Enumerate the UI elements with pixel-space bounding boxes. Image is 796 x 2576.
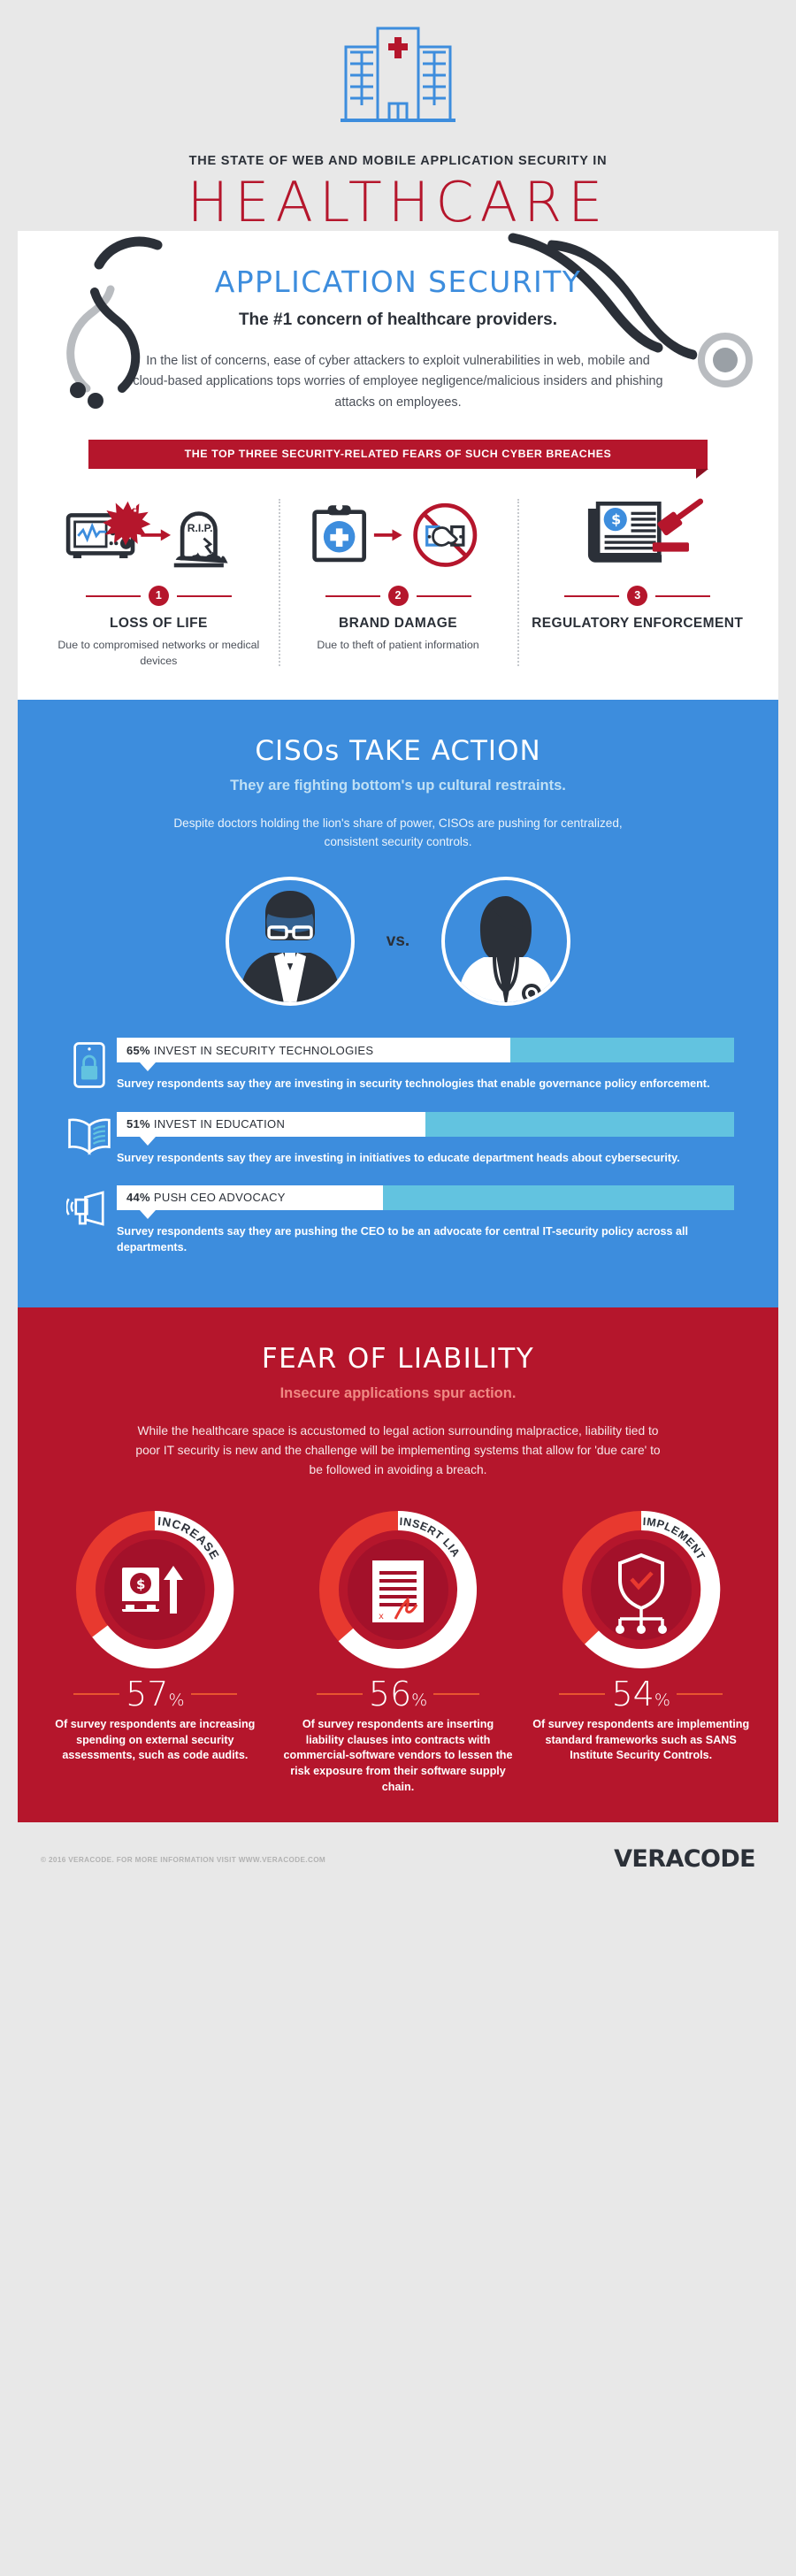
rule-line xyxy=(417,595,471,597)
percent-rule: 57% xyxy=(39,1677,272,1711)
fear-number: 1 xyxy=(149,586,169,606)
cisos-title: CISOs TAKE ACTION xyxy=(18,735,778,767)
stat-label: INVEST IN EDUCATION xyxy=(154,1117,285,1131)
rule-line xyxy=(655,595,710,597)
stat-label: INVEST IN SECURITY TECHNOLOGIES xyxy=(154,1044,373,1057)
infographic-page: THE STATE OF WEB AND MOBILE APPLICATION … xyxy=(0,0,796,2576)
rule-line xyxy=(86,595,141,597)
ciso-stats-list: 65% INVEST IN SECURITY TECHNOLOGIES Surv… xyxy=(62,1038,734,1256)
percent-number: 57 xyxy=(126,1675,168,1713)
percent-value: 57% xyxy=(126,1677,184,1711)
application-security-panel: APPLICATION SECURITY The #1 concern of h… xyxy=(18,231,778,700)
copyright-text: © 2016 VERACODE. FOR MORE INFORMATION VI… xyxy=(41,1856,325,1864)
veracode-logo: VERACODE xyxy=(614,1845,755,1873)
percent-symbol: % xyxy=(411,1690,427,1710)
svg-text:R.I.P.: R.I.P. xyxy=(188,522,213,534)
percent-value: 54% xyxy=(611,1677,670,1711)
businessman-avatar-icon xyxy=(224,875,356,1008)
tablet-lock-icon xyxy=(62,1038,117,1089)
app-security-title: APPLICATION SECURITY xyxy=(18,264,778,299)
stat-bar-label: 51% INVEST IN EDUCATION xyxy=(117,1112,425,1137)
medical-clipboard-to-no-handshake-icon xyxy=(286,495,511,571)
page-title: HEALTHCARE xyxy=(0,173,796,231)
percent-value: 56% xyxy=(369,1677,427,1711)
open-book-icon xyxy=(62,1112,117,1156)
svg-text:x: x xyxy=(379,1612,384,1621)
cisos-body: Despite doctors holding the lion's share… xyxy=(150,814,646,853)
fear-number: 3 xyxy=(627,586,647,606)
stat-percent: 65% xyxy=(126,1044,150,1057)
fear-desc: Due to compromised networks or medical d… xyxy=(46,638,272,669)
document-gavel-icon: $ xyxy=(524,495,750,571)
liability-subtitle: Insecure applications spur action. xyxy=(18,1385,778,1402)
percent-rule: 56% xyxy=(282,1677,515,1711)
percent-rule: 54% xyxy=(524,1677,757,1711)
rule-line xyxy=(191,1693,237,1695)
liability-donuts: INCREASE SPENDING $ 57 xyxy=(18,1506,778,1796)
rule-line xyxy=(433,1693,479,1695)
doctor-avatar-icon xyxy=(440,875,572,1008)
vs-label: vs. xyxy=(387,931,409,951)
stat-desc: Survey respondents say they are pushing … xyxy=(117,1223,734,1256)
fear-name: BRAND DAMAGE xyxy=(286,615,511,632)
stat-label: PUSH CEO ADVOCACY xyxy=(154,1191,286,1204)
liability-body: While the healthcare space is accustomed… xyxy=(133,1422,663,1481)
stat-bar: 44% PUSH CEO ADVOCACY xyxy=(117,1185,734,1210)
percent-symbol: % xyxy=(654,1690,670,1710)
rule-line xyxy=(559,1693,605,1695)
bar-pointer xyxy=(140,1137,156,1146)
fear-number: 2 xyxy=(388,586,409,606)
page-kicker: THE STATE OF WEB AND MOBILE APPLICATION … xyxy=(0,154,796,168)
fear-number-rule: 1 xyxy=(46,586,272,606)
header: THE STATE OF WEB AND MOBILE APPLICATION … xyxy=(0,0,796,231)
percent-desc: Of survey respondents are inserting liab… xyxy=(282,1717,515,1796)
stat-percent: 51% xyxy=(126,1117,150,1131)
donut-chart: INSERT LIABILITY CLAUSE x xyxy=(314,1506,482,1674)
heart-monitor-to-gravestone-icon: ! R.I.P. xyxy=(46,495,272,571)
stat-row: 51% INVEST IN EDUCATION Survey responden… xyxy=(62,1112,734,1166)
fear-number-rule: 3 xyxy=(524,586,750,606)
app-security-subtitle: The #1 concern of healthcare providers. xyxy=(18,310,778,330)
stat-row: 65% INVEST IN SECURITY TECHNOLOGIES Surv… xyxy=(62,1038,734,1092)
fears-list: ! R.I.P. 1 LOSS OF LIFE Due to compromis… xyxy=(18,495,778,670)
bar-pointer xyxy=(140,1062,156,1071)
stat-desc: Survey respondents say they are investin… xyxy=(117,1076,734,1092)
fears-banner: THE TOP THREE SECURITY-RELATED FEARS OF … xyxy=(88,440,708,469)
donut-chart: INCREASE SPENDING $ xyxy=(71,1506,239,1674)
donut-chart: IMPLEMENT FRAMEWORK xyxy=(557,1506,725,1674)
money-up-arrow-icon: $ xyxy=(120,1566,183,1614)
stat-bar-label: 65% INVEST IN SECURITY TECHNOLOGIES xyxy=(117,1038,510,1062)
hospital-building-icon xyxy=(314,19,482,134)
stat-desc: Survey respondents say they are investin… xyxy=(117,1150,734,1166)
rule-line xyxy=(677,1693,723,1695)
stat-bar: 51% INVEST IN EDUCATION xyxy=(117,1112,734,1137)
svg-text:$: $ xyxy=(136,1576,145,1592)
liability-title: FEAR OF LIABILITY xyxy=(18,1343,778,1375)
rule-line xyxy=(325,595,380,597)
rule-line xyxy=(73,1693,119,1695)
svg-text:!: ! xyxy=(132,499,138,516)
rule-line xyxy=(177,595,232,597)
donut-item: INSERT LIABILITY CLAUSE x xyxy=(277,1506,520,1796)
app-security-body: In the list of concerns, ease of cyber a… xyxy=(133,351,663,413)
fear-item: ! R.I.P. 1 LOSS OF LIFE Due to compromis… xyxy=(39,495,279,670)
fear-item: 2 BRAND DAMAGE Due to theft of patient i… xyxy=(279,495,518,670)
fear-item: $ 3 REGULATORY ENFORCEMENT xyxy=(517,495,757,670)
rule-line xyxy=(317,1693,363,1695)
percent-number: 54 xyxy=(611,1675,654,1713)
footer: © 2016 VERACODE. FOR MORE INFORMATION VI… xyxy=(18,1822,778,1904)
fear-name: LOSS OF LIFE xyxy=(46,615,272,632)
donut-item: INCREASE SPENDING $ 57 xyxy=(34,1506,277,1796)
stat-percent: 44% xyxy=(126,1191,150,1204)
percent-symbol: % xyxy=(168,1690,184,1710)
svg-text:$: $ xyxy=(611,511,621,528)
rule-line xyxy=(564,595,619,597)
megaphone-icon xyxy=(62,1185,117,1228)
fear-name: REGULATORY ENFORCEMENT xyxy=(524,615,750,632)
fear-number-rule: 2 xyxy=(286,586,511,606)
fear-desc: Due to theft of patient information xyxy=(286,638,511,654)
stat-row: 44% PUSH CEO ADVOCACY Survey respondents… xyxy=(62,1185,734,1256)
donut-item: IMPLEMENT FRAMEWORK 5 xyxy=(519,1506,762,1796)
avatar-comparison: vs. xyxy=(18,875,778,1008)
cisos-subtitle: They are fighting bottom's up cultural r… xyxy=(18,778,778,794)
percent-desc: Of survey respondents are implementing s… xyxy=(524,1717,757,1765)
stat-bar-label: 44% PUSH CEO ADVOCACY xyxy=(117,1185,383,1210)
liability-panel: FEAR OF LIABILITY Insecure applications … xyxy=(18,1307,778,1822)
signed-contract-icon: x xyxy=(372,1560,424,1622)
bar-pointer xyxy=(140,1210,156,1219)
percent-number: 56 xyxy=(369,1675,411,1713)
stat-bar: 65% INVEST IN SECURITY TECHNOLOGIES xyxy=(117,1038,734,1062)
cisos-panel: CISOs TAKE ACTION They are fighting bott… xyxy=(18,700,778,1307)
percent-desc: Of survey respondents are increasing spe… xyxy=(39,1717,272,1765)
